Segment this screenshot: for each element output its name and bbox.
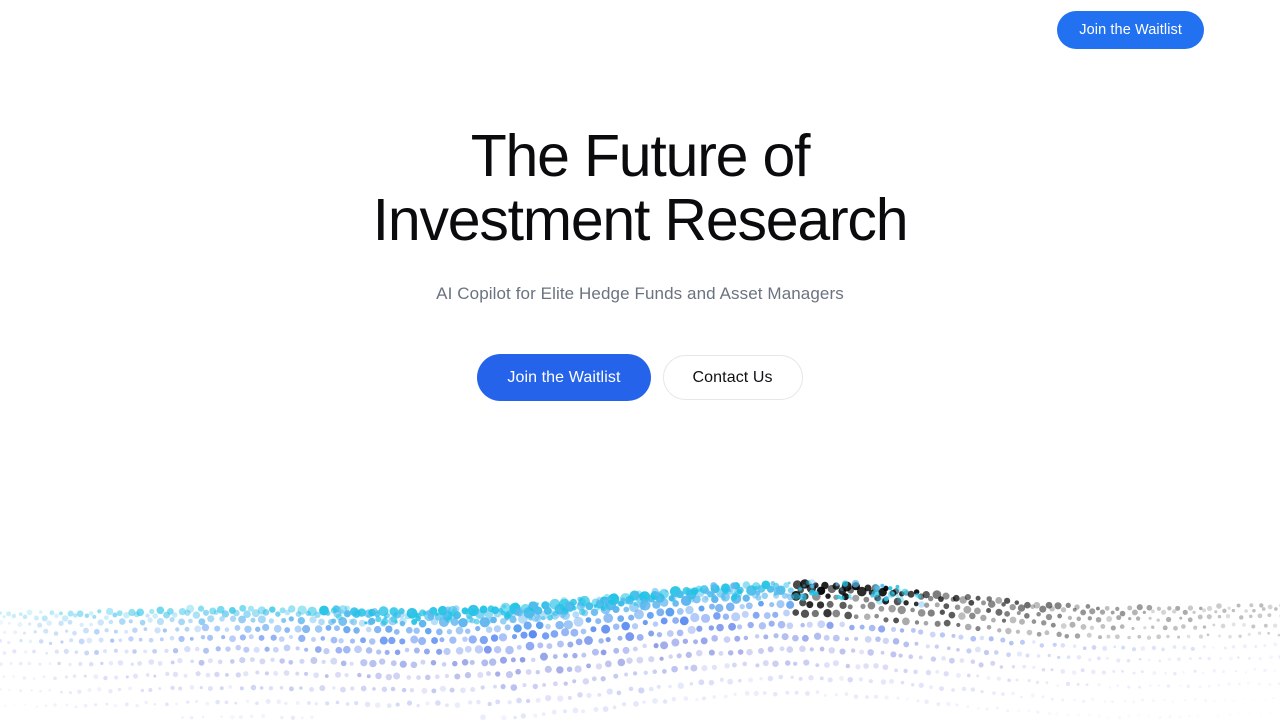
particle-wave-canvas [0, 560, 1280, 720]
hero-section: The Future of Investment Research AI Cop… [0, 0, 1280, 430]
hero-cta-row: Join the Waitlist Contact Us [477, 354, 802, 401]
hero-join-waitlist-button[interactable]: Join the Waitlist [477, 354, 650, 401]
particle-wave-field [0, 560, 1280, 720]
header-join-waitlist-button[interactable]: Join the Waitlist [1057, 11, 1204, 49]
page-title-line-1: The Future of [373, 124, 908, 188]
hero-subtitle: AI Copilot for Elite Hedge Funds and Ass… [436, 282, 844, 306]
hero-contact-us-button[interactable]: Contact Us [663, 355, 803, 400]
page-title-line-2: Investment Research [373, 188, 908, 252]
page-title: The Future of Investment Research [373, 124, 908, 252]
top-bar: Join the Waitlist [0, 0, 1280, 60]
